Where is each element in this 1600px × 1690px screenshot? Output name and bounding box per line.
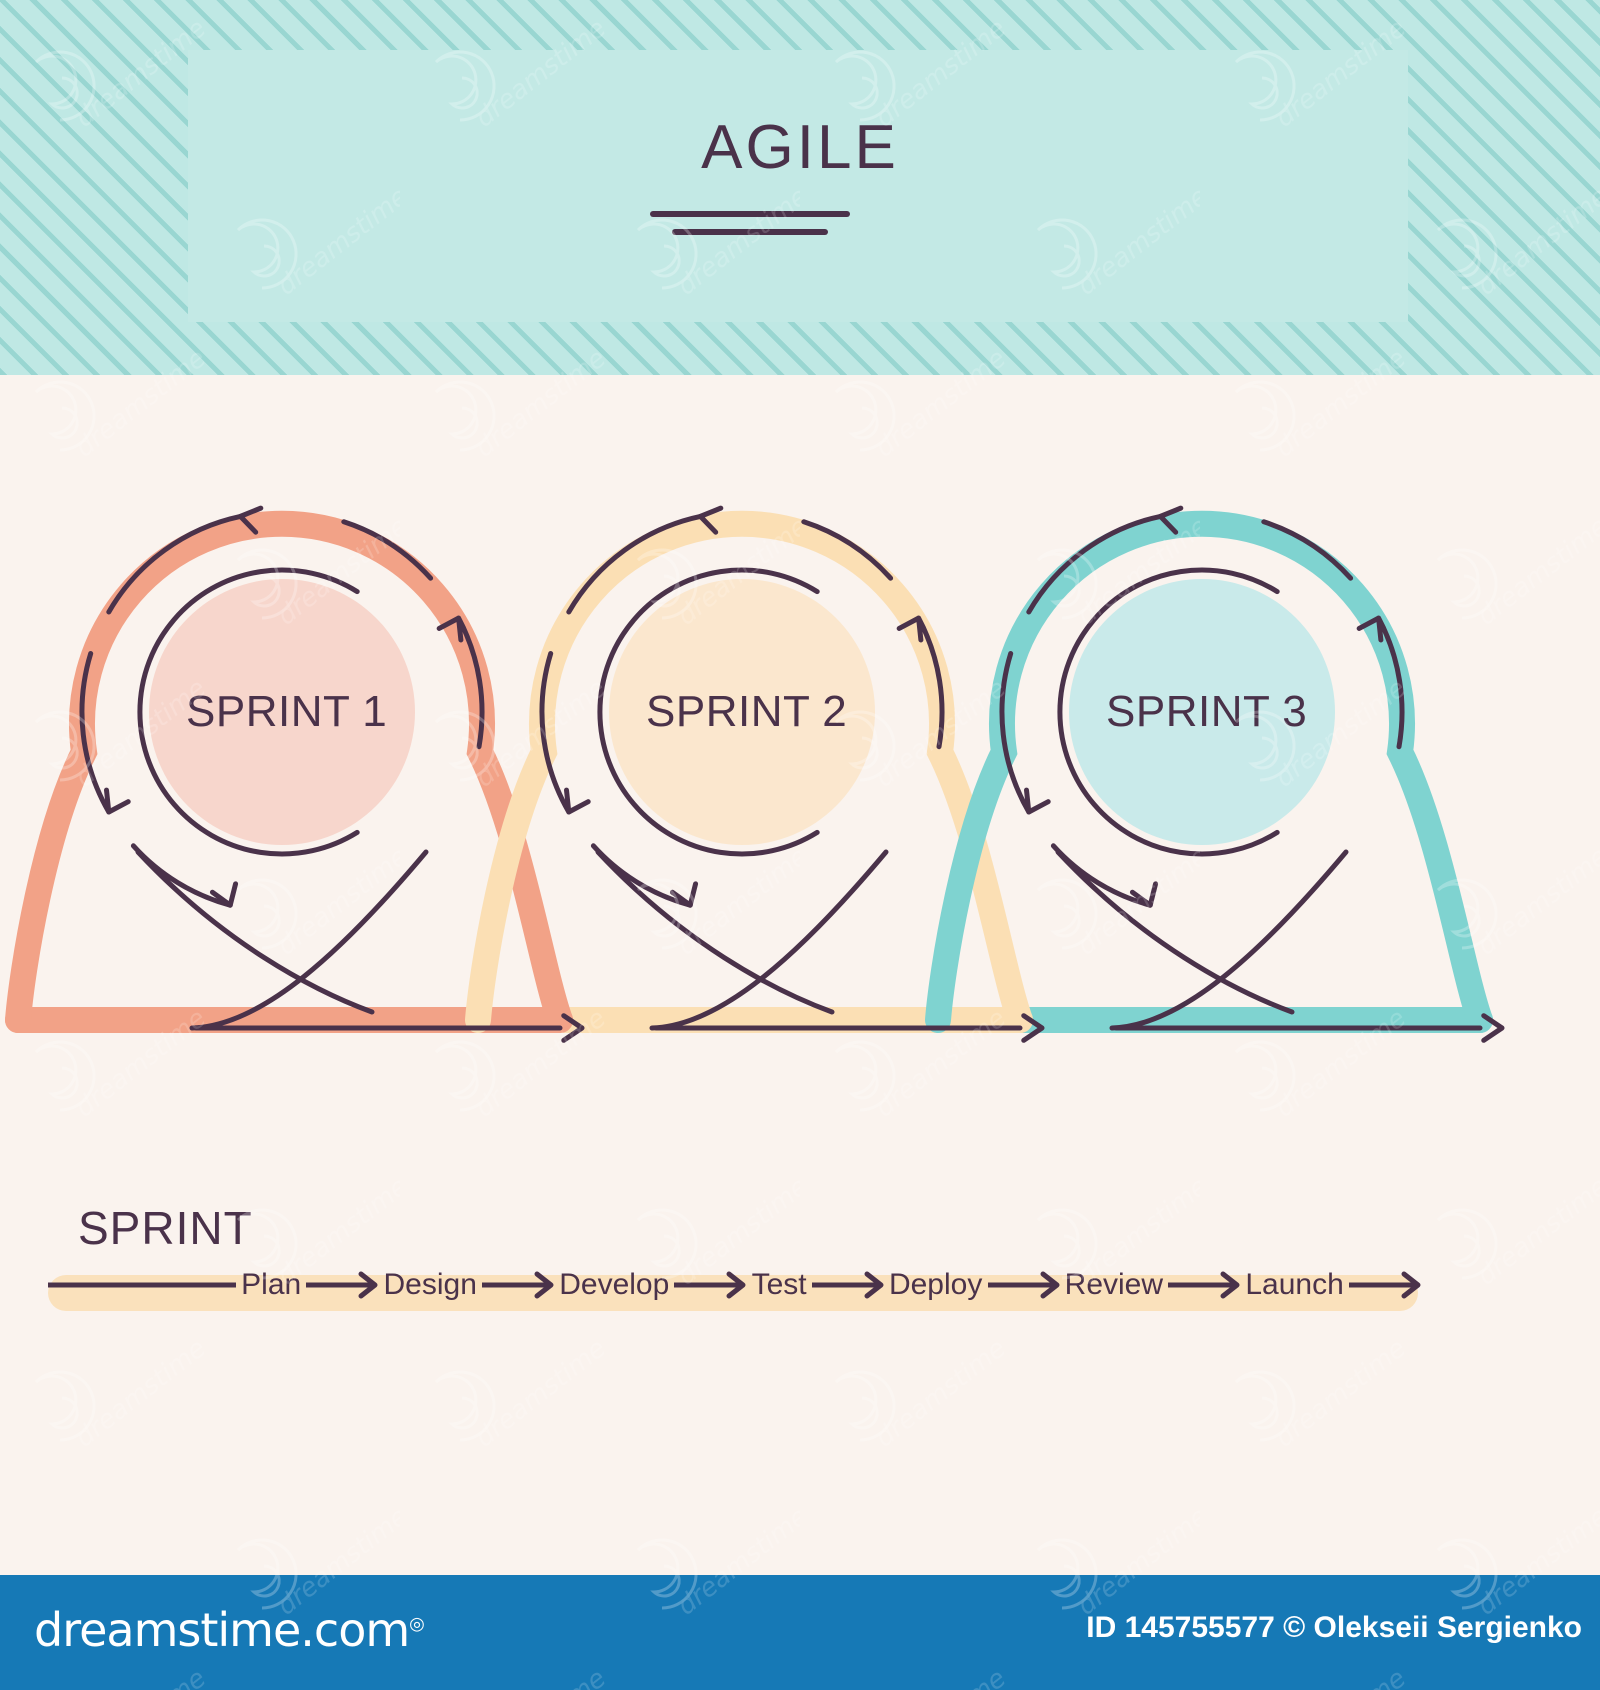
process-step-row: PlanDesignDevelopTestDeployReviewLaunch: [48, 1255, 1426, 1315]
loop-tail-right-3: [1112, 852, 1346, 1028]
loop-tail-left-2: [598, 852, 832, 1012]
header-solid-panel: [188, 50, 1408, 322]
loop-tail-right-1: [192, 852, 426, 1028]
loop-tail-left-1: [138, 852, 372, 1012]
dreamstime-logo[interactable]: dreamstime.com◎: [34, 1603, 424, 1657]
process-lead-line: [48, 1270, 236, 1300]
registered-spiral-icon: ◎: [409, 1614, 424, 1635]
arrow-right-icon: [674, 1270, 746, 1300]
process-step-deploy[interactable]: Deploy: [889, 1268, 982, 1302]
process-heading: SPRINT: [78, 1201, 253, 1255]
arrow-right-icon: [306, 1270, 378, 1300]
header-banner: AGILE: [0, 0, 1600, 375]
loop-tail-left-3: [1058, 852, 1292, 1012]
process-step-test[interactable]: Test: [752, 1268, 807, 1302]
loop-tail-right-2: [652, 852, 886, 1028]
process-step-launch[interactable]: Launch: [1245, 1268, 1343, 1302]
stock-footer: dreamstime.com◎ ID 145755577 © Olekseii …: [0, 1575, 1600, 1690]
sprint-label-2: SPRINT 2: [646, 687, 847, 737]
sprint-label-3: SPRINT 3: [1106, 687, 1307, 737]
title-underline-long: [650, 211, 850, 217]
process-step-review[interactable]: Review: [1065, 1268, 1163, 1302]
arrow-right-icon: [1168, 1270, 1240, 1300]
process-step-develop[interactable]: Develop: [559, 1268, 669, 1302]
diagram-canvas: SPRINT 1 SPRINT 2 SPRINT 3 SPRINT PlanDe…: [0, 375, 1600, 1575]
title-underline-short: [672, 229, 828, 235]
loop-arrowhead-left-3: [1026, 790, 1048, 812]
arrow-right-icon: [1349, 1270, 1421, 1300]
arrow-right-icon: [812, 1270, 884, 1300]
agile-loop-diagram: [0, 375, 1600, 1575]
arrow-right-icon: [988, 1270, 1060, 1300]
process-step-plan[interactable]: Plan: [241, 1268, 301, 1302]
loop-arrowhead-left-1: [106, 790, 128, 812]
dreamstime-logo-text: dreamstime.com: [34, 1603, 409, 1657]
sprint-label-1: SPRINT 1: [186, 687, 387, 737]
arrow-right-icon: [482, 1270, 554, 1300]
process-step-design[interactable]: Design: [384, 1268, 477, 1302]
page-title: AGILE: [0, 112, 1600, 183]
loop-arrowhead-left-2: [566, 790, 588, 812]
image-credit: ID 145755577 © Olekseii Sergienko: [1086, 1611, 1582, 1645]
